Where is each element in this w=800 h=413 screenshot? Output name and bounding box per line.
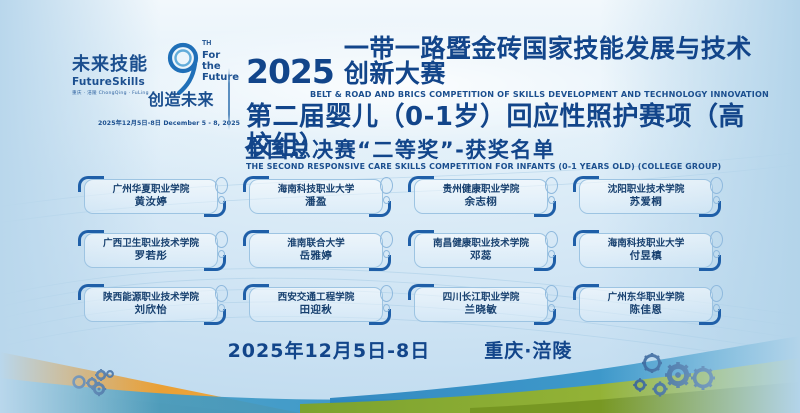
winner-card-inner: 四川长江职业学院 兰晓敏: [414, 287, 548, 322]
winner-school: 南昌健康职业技术学院: [433, 238, 529, 250]
poster-header: TH For the Future 未来技能 FutureSkills 重庆 ·…: [0, 30, 800, 130]
winner-card-inner: 西安交通工程学院 田迎秋: [249, 287, 383, 322]
ring-icon: [548, 250, 555, 258]
corner-bracket-icon: [243, 230, 269, 246]
winner-card-inner: 广西卫生职业技术学院 罗若彤: [84, 233, 218, 268]
gear-cluster-left: [74, 369, 113, 396]
corner-bracket-icon: [78, 230, 104, 246]
winner-card-inner: 广州华夏职业学院 黄汝婷: [84, 179, 218, 214]
winners-grid: 广州华夏职业学院 黄汝婷 海南科技职业大学 潘盈 贵州健康职业学院 余志栩: [78, 176, 726, 325]
winner-name: 苏爱桐: [630, 196, 663, 210]
winner-card-inner: 海南科技职业大学 付昱槙: [579, 233, 713, 268]
ring-icon: [710, 177, 723, 194]
logo-for-the-future: For the Future: [202, 50, 239, 84]
futureskills-logo: TH For the Future 未来技能 FutureSkills 重庆 ·…: [72, 38, 232, 130]
winner-card: 四川长江职业学院 兰晓敏: [408, 284, 560, 325]
ring-icon: [383, 304, 390, 312]
logo-en-main: FutureSkills: [72, 76, 149, 88]
corner-bracket-icon: [573, 284, 599, 300]
winner-name: 罗若彤: [135, 250, 168, 264]
winner-school: 西安交通工程学院: [278, 292, 355, 304]
logo-text-block: 未来技能 FutureSkills 重庆 · 涪陵 ChongQing · Fu…: [72, 56, 149, 96]
ring-icon: [545, 177, 558, 194]
ring-icon: [710, 231, 723, 248]
corner-bracket-icon: [573, 176, 599, 192]
winner-school: 广西卫生职业技术学院: [103, 238, 199, 250]
ring-icon: [545, 231, 558, 248]
corner-bracket-icon: [78, 176, 104, 192]
winner-school: 海南科技职业大学: [278, 184, 355, 196]
corner-bracket-icon: [408, 230, 434, 246]
footer-location: 重庆·涪陵: [484, 336, 572, 363]
winner-school: 淮南联合大学: [287, 238, 345, 250]
award-heading: 全国总决赛“二等奖”-获奖名单: [0, 134, 800, 164]
winner-name: 陈佳恩: [630, 304, 663, 318]
event-year: 2025: [246, 56, 334, 87]
ring-icon: [380, 231, 393, 248]
ring-icon: [545, 285, 558, 302]
winner-card-inner: 淮南联合大学 岳雅婷: [249, 233, 383, 268]
logo-date-line: 2025年12月5日-8日 December 5 - 8, 2025: [98, 118, 240, 127]
winner-card: 广州华夏职业学院 黄汝婷: [78, 176, 230, 217]
winner-card: 贵州健康职业学院 余志栩: [408, 176, 560, 217]
title-line-one: 2025 一带一路暨金砖国家技能发展与技术创新大赛: [246, 36, 766, 87]
ring-icon: [380, 285, 393, 302]
winner-card: 西安交通工程学院 田迎秋: [243, 284, 395, 325]
logo-create-future: 创造未来: [148, 86, 214, 110]
winner-card-inner: 南昌健康职业技术学院 邓蕊: [414, 233, 548, 268]
logo-cn-main: 未来技能: [72, 56, 149, 74]
winner-school: 四川长江职业学院: [443, 292, 520, 304]
logo-th-label: TH: [202, 40, 211, 47]
winner-name: 田迎秋: [300, 304, 333, 318]
winner-card: 陕西能源职业技术学院 刘欣怡: [78, 284, 230, 325]
winner-card-inner: 广州东华职业学院 陈佳恩: [579, 287, 713, 322]
header-divider: [228, 68, 230, 130]
winner-school: 沈阳职业技术学院: [608, 184, 685, 196]
winner-school: 贵州健康职业学院: [443, 184, 520, 196]
winner-name: 刘欣怡: [135, 304, 168, 318]
logo-for-line1: For: [202, 50, 239, 61]
winner-card: 广西卫生职业技术学院 罗若彤: [78, 230, 230, 271]
winner-name: 黄汝婷: [135, 196, 168, 210]
corner-bracket-icon: [408, 284, 434, 300]
winner-name: 潘盈: [305, 196, 327, 210]
ring-icon: [380, 177, 393, 194]
ring-icon: [713, 304, 720, 312]
corner-bracket-icon: [408, 176, 434, 192]
poster-footer: 2025年12月5日-8日 重庆·涪陵: [0, 336, 800, 363]
ring-icon: [383, 196, 390, 204]
winner-school: 陕西能源职业技术学院: [103, 292, 199, 304]
ring-icon: [215, 177, 228, 194]
logo-for-line2: the Future: [202, 61, 239, 83]
winner-card: 淮南联合大学 岳雅婷: [243, 230, 395, 271]
winner-name: 余志栩: [465, 196, 498, 210]
logo-location-sub: 重庆 · 涪陵 ChongQing · FuLing: [72, 90, 149, 96]
winner-card-inner: 沈阳职业技术学院 苏爱桐: [579, 179, 713, 214]
ring-icon: [215, 285, 228, 302]
footer-date: 2025年12月5日-8日: [228, 336, 431, 363]
winner-card-inner: 海南科技职业大学 潘盈: [249, 179, 383, 214]
ring-icon: [218, 196, 225, 204]
winner-card: 沈阳职业技术学院 苏爱桐: [573, 176, 725, 217]
ring-icon: [383, 250, 390, 258]
ring-icon: [710, 285, 723, 302]
winner-card: 南昌健康职业技术学院 邓蕊: [408, 230, 560, 271]
corner-bracket-icon: [573, 230, 599, 246]
winner-name: 付昱槙: [630, 250, 663, 264]
ring-icon: [218, 304, 225, 312]
winner-school: 海南科技职业大学: [608, 238, 685, 250]
winner-card-inner: 陕西能源职业技术学院 刘欣怡: [84, 287, 218, 322]
winner-card: 海南科技职业大学 潘盈: [243, 176, 395, 217]
corner-bracket-icon: [243, 284, 269, 300]
competition-title-cn: 一带一路暨金砖国家技能发展与技术创新大赛: [344, 36, 766, 86]
winner-card: 广州东华职业学院 陈佳恩: [573, 284, 725, 325]
corner-bracket-icon: [78, 284, 104, 300]
ring-icon: [218, 250, 225, 258]
winner-school: 广州华夏职业学院: [113, 184, 190, 196]
poster-root: TH For the Future 未来技能 FutureSkills 重庆 ·…: [0, 0, 800, 413]
ring-icon: [548, 196, 555, 204]
winner-name: 兰晓敏: [465, 304, 498, 318]
winner-school: 广州东华职业学院: [608, 292, 685, 304]
winner-card: 海南科技职业大学 付昱槙: [573, 230, 725, 271]
ring-icon: [713, 250, 720, 258]
ring-icon: [548, 304, 555, 312]
winner-name: 邓蕊: [470, 250, 492, 264]
winner-card-inner: 贵州健康职业学院 余志栩: [414, 179, 548, 214]
competition-title-en: BELT & ROAD AND BRICS COMPETITION OF SKI…: [310, 89, 766, 99]
ring-icon: [713, 196, 720, 204]
corner-bracket-icon: [243, 176, 269, 192]
ring-icon: [215, 231, 228, 248]
winner-name: 岳雅婷: [300, 250, 333, 264]
